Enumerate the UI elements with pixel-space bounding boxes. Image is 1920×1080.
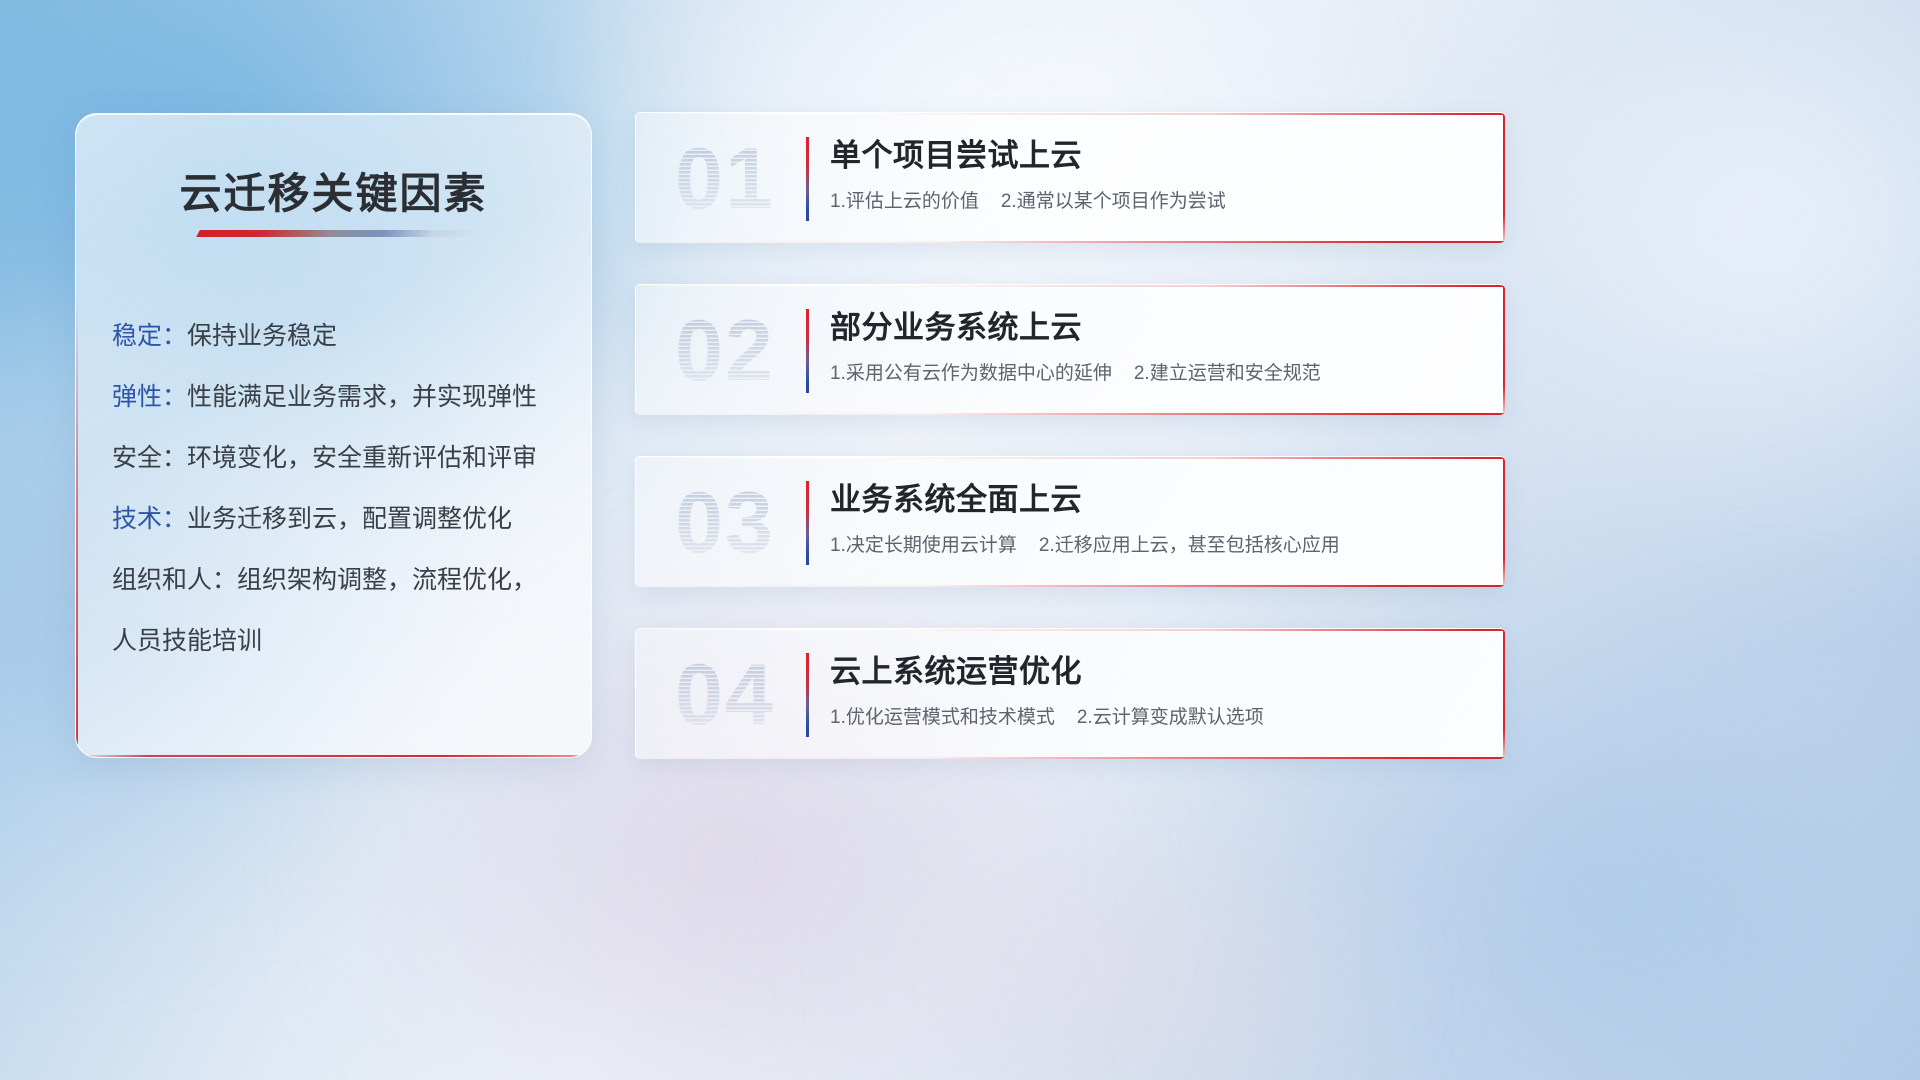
- step-number-text: 01: [675, 131, 775, 227]
- page-title: 云迁移关键因素: [76, 160, 591, 221]
- key-factor-row: 弹性：性能满足业务需求，并实现弹性: [112, 367, 571, 428]
- step-title: 云上系统运营优化: [830, 651, 1471, 693]
- key-factor-label: 安全：: [112, 444, 187, 472]
- key-factor-row: 技术：业务迁移到云，配置调整优化: [112, 489, 571, 550]
- step-accent-bar: [806, 137, 809, 221]
- step-point: 2.迁移应用上云，甚至包括核心应用: [1039, 535, 1340, 556]
- step-point: 1.决定长期使用云计算: [830, 535, 1017, 556]
- key-factor-value: 组织架构调整，流程优化，: [237, 566, 537, 594]
- key-factor-value: 人员技能培训: [112, 627, 262, 655]
- slide-stage: 云迁移关键因素 稳定：保持业务稳定弹性：性能满足业务需求，并实现弹性安全：环境变…: [0, 0, 1920, 1080]
- step-content: 业务系统全面上云1.决定长期使用云计算2.迁移应用上云，甚至包括核心应用: [830, 479, 1471, 559]
- key-factor-row: 稳定：保持业务稳定: [112, 306, 571, 367]
- step-card-04[interactable]: 04云上系统运营优化1.优化运营模式和技术模式2.云计算变成默认选项: [635, 628, 1505, 759]
- key-factors-list: 稳定：保持业务稳定弹性：性能满足业务需求，并实现弹性安全：环境变化，安全重新评估…: [112, 306, 571, 672]
- step-points: 1.评估上云的价值2.通常以某个项目作为尝试: [830, 188, 1471, 215]
- step-card-top-accent: [636, 457, 1505, 459]
- step-number-watermark: 02: [660, 299, 790, 403]
- step-card-03[interactable]: 03业务系统全面上云1.决定长期使用云计算2.迁移应用上云，甚至包括核心应用: [635, 456, 1505, 587]
- key-factor-label: 稳定：: [112, 322, 187, 350]
- step-content: 云上系统运营优化1.优化运营模式和技术模式2.云计算变成默认选项: [830, 651, 1471, 731]
- maturity-steps-list: 01单个项目尝试上云1.评估上云的价值2.通常以某个项目作为尝试02部分业务系统…: [635, 112, 1505, 800]
- step-card-top-accent: [636, 629, 1505, 631]
- key-factor-label: 技术：: [112, 505, 187, 533]
- step-number-text: 03: [675, 475, 775, 571]
- key-factor-value: 业务迁移到云，配置调整优化: [187, 505, 512, 533]
- step-accent-bar: [806, 653, 809, 737]
- title-underline-accent: [196, 230, 480, 237]
- key-factor-label: 弹性：: [112, 383, 187, 411]
- step-number-text: 04: [675, 647, 775, 743]
- key-factors-panel: 云迁移关键因素 稳定：保持业务稳定弹性：性能满足业务需求，并实现弹性安全：环境变…: [75, 113, 592, 758]
- step-number-watermark: 04: [660, 643, 790, 747]
- step-card-01[interactable]: 01单个项目尝试上云1.评估上云的价值2.通常以某个项目作为尝试: [635, 112, 1505, 243]
- step-number-watermark: 03: [660, 471, 790, 575]
- step-point: 1.评估上云的价值: [830, 191, 979, 212]
- key-factor-row: 人员技能培训: [112, 611, 571, 672]
- step-number-watermark: 01: [660, 127, 790, 231]
- key-factor-label: 组织和人：: [112, 566, 237, 594]
- step-accent-bar: [806, 309, 809, 393]
- step-point: 2.云计算变成默认选项: [1077, 707, 1264, 728]
- key-factor-row: 安全：环境变化，安全重新评估和评审: [112, 428, 571, 489]
- step-point: 1.优化运营模式和技术模式: [830, 707, 1055, 728]
- step-title: 业务系统全面上云: [830, 479, 1471, 521]
- key-factor-value: 保持业务稳定: [187, 322, 337, 350]
- step-content: 单个项目尝试上云1.评估上云的价值2.通常以某个项目作为尝试: [830, 135, 1471, 215]
- step-title: 单个项目尝试上云: [830, 135, 1471, 177]
- step-point: 2.建立运营和安全规范: [1134, 363, 1321, 384]
- step-title: 部分业务系统上云: [830, 307, 1471, 349]
- step-number-text: 02: [675, 303, 775, 399]
- step-card-top-accent: [636, 285, 1505, 287]
- key-factor-row: 组织和人：组织架构调整，流程优化，: [112, 550, 571, 611]
- step-point: 2.通常以某个项目作为尝试: [1001, 191, 1226, 212]
- step-card-top-accent: [636, 113, 1505, 115]
- step-points: 1.采用公有云作为数据中心的延伸2.建立运营和安全规范: [830, 360, 1471, 387]
- step-card-02[interactable]: 02部分业务系统上云1.采用公有云作为数据中心的延伸2.建立运营和安全规范: [635, 284, 1505, 415]
- step-points: 1.优化运营模式和技术模式2.云计算变成默认选项: [830, 704, 1471, 731]
- step-content: 部分业务系统上云1.采用公有云作为数据中心的延伸2.建立运营和安全规范: [830, 307, 1471, 387]
- key-factor-value: 性能满足业务需求，并实现弹性: [187, 383, 537, 411]
- step-accent-bar: [806, 481, 809, 565]
- step-points: 1.决定长期使用云计算2.迁移应用上云，甚至包括核心应用: [830, 532, 1471, 559]
- step-point: 1.采用公有云作为数据中心的延伸: [830, 363, 1112, 384]
- key-factor-value: 环境变化，安全重新评估和评审: [187, 444, 537, 472]
